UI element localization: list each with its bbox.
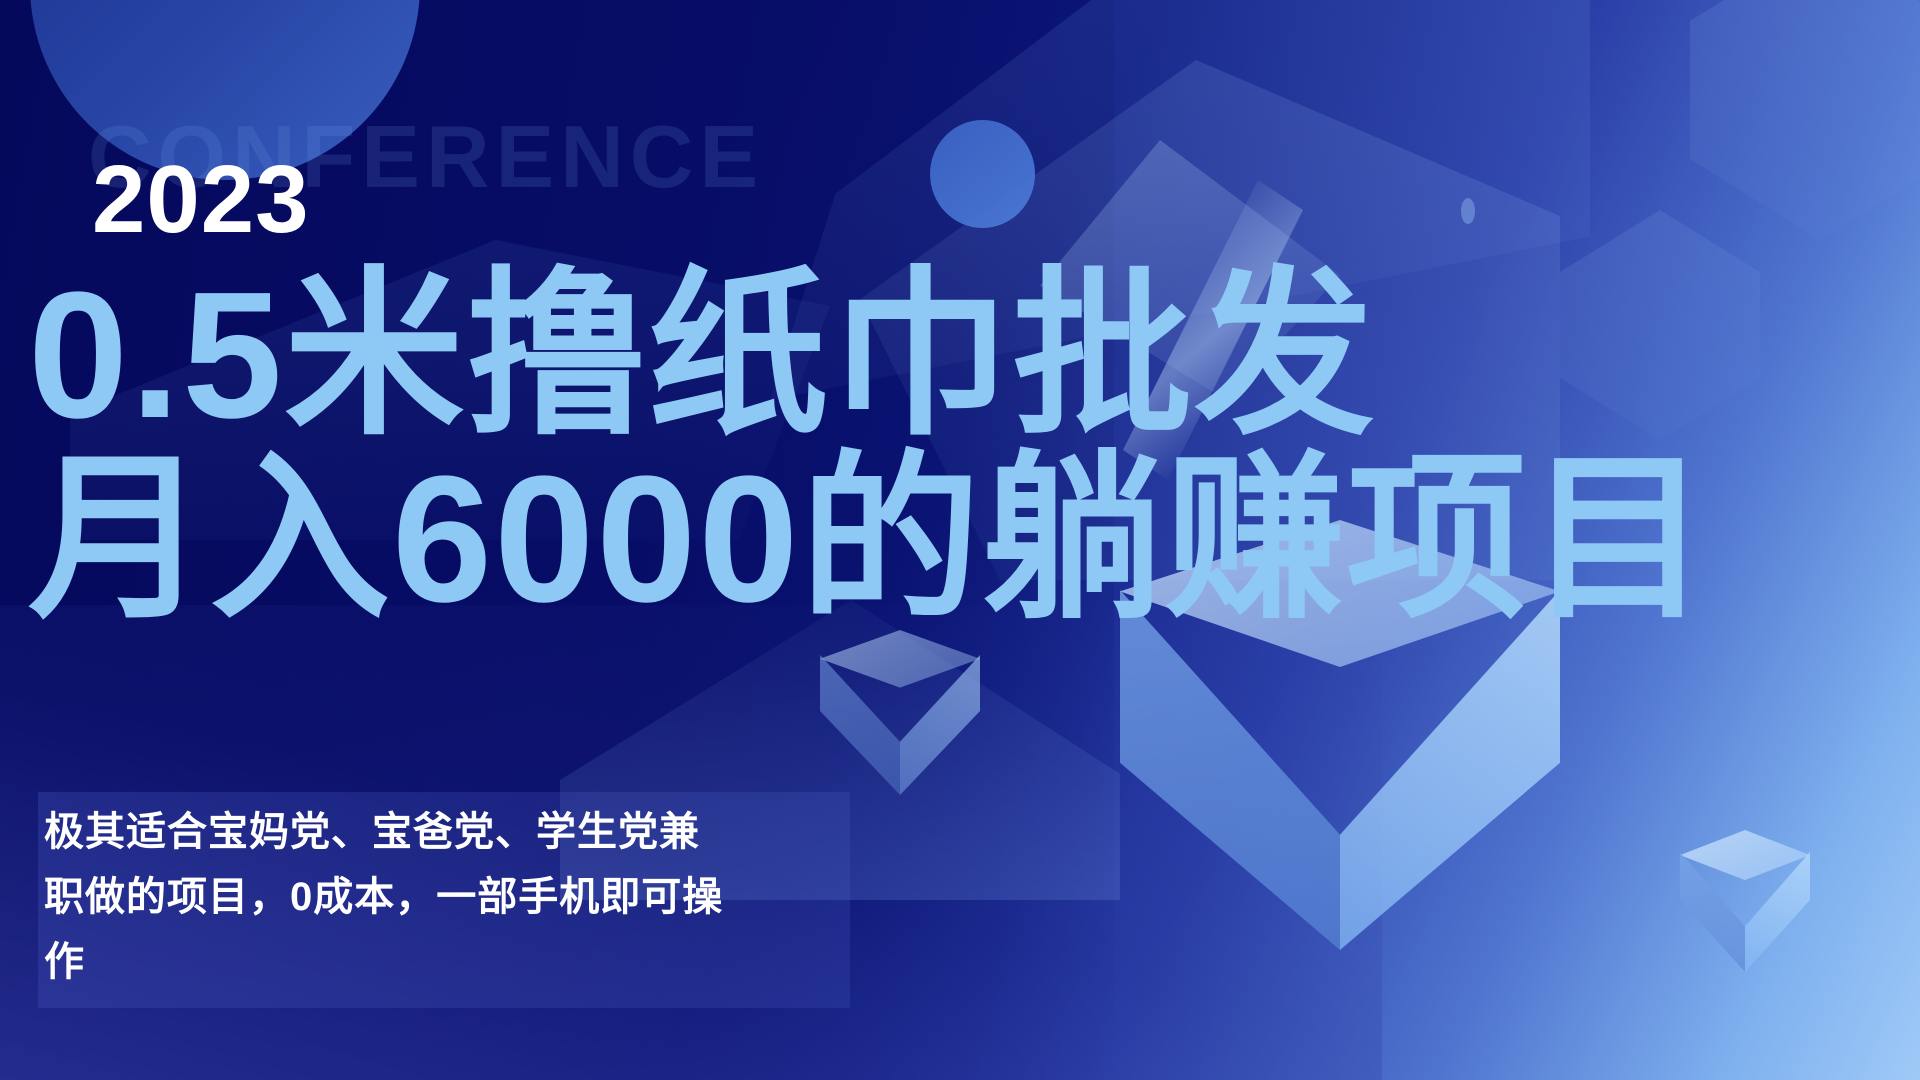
dot-small-upper-right bbox=[1461, 198, 1475, 224]
headline-line-2: 月入6000的躺赚项目 bbox=[28, 452, 1920, 628]
circle-medium-upper-center bbox=[930, 120, 1035, 228]
headline-line-1: 0.5米撸纸巾批发 bbox=[28, 255, 1376, 456]
promo-poster: CONFERENCE 2023 0.5米撸纸巾批发 月入6000的躺赚项目 极其… bbox=[0, 0, 1920, 1080]
headline-block: 0.5米撸纸巾批发 月入6000的躺赚项目 bbox=[28, 268, 1920, 629]
year-label: 2023 bbox=[92, 152, 310, 248]
subtitle-text: 极其适合宝妈党、宝爸党、学生党兼 职做的项目，0成本，一部手机即可操 作 bbox=[44, 800, 844, 994]
subtitle-panel: 极其适合宝妈党、宝爸党、学生党兼 职做的项目，0成本，一部手机即可操 作 bbox=[38, 792, 850, 1008]
